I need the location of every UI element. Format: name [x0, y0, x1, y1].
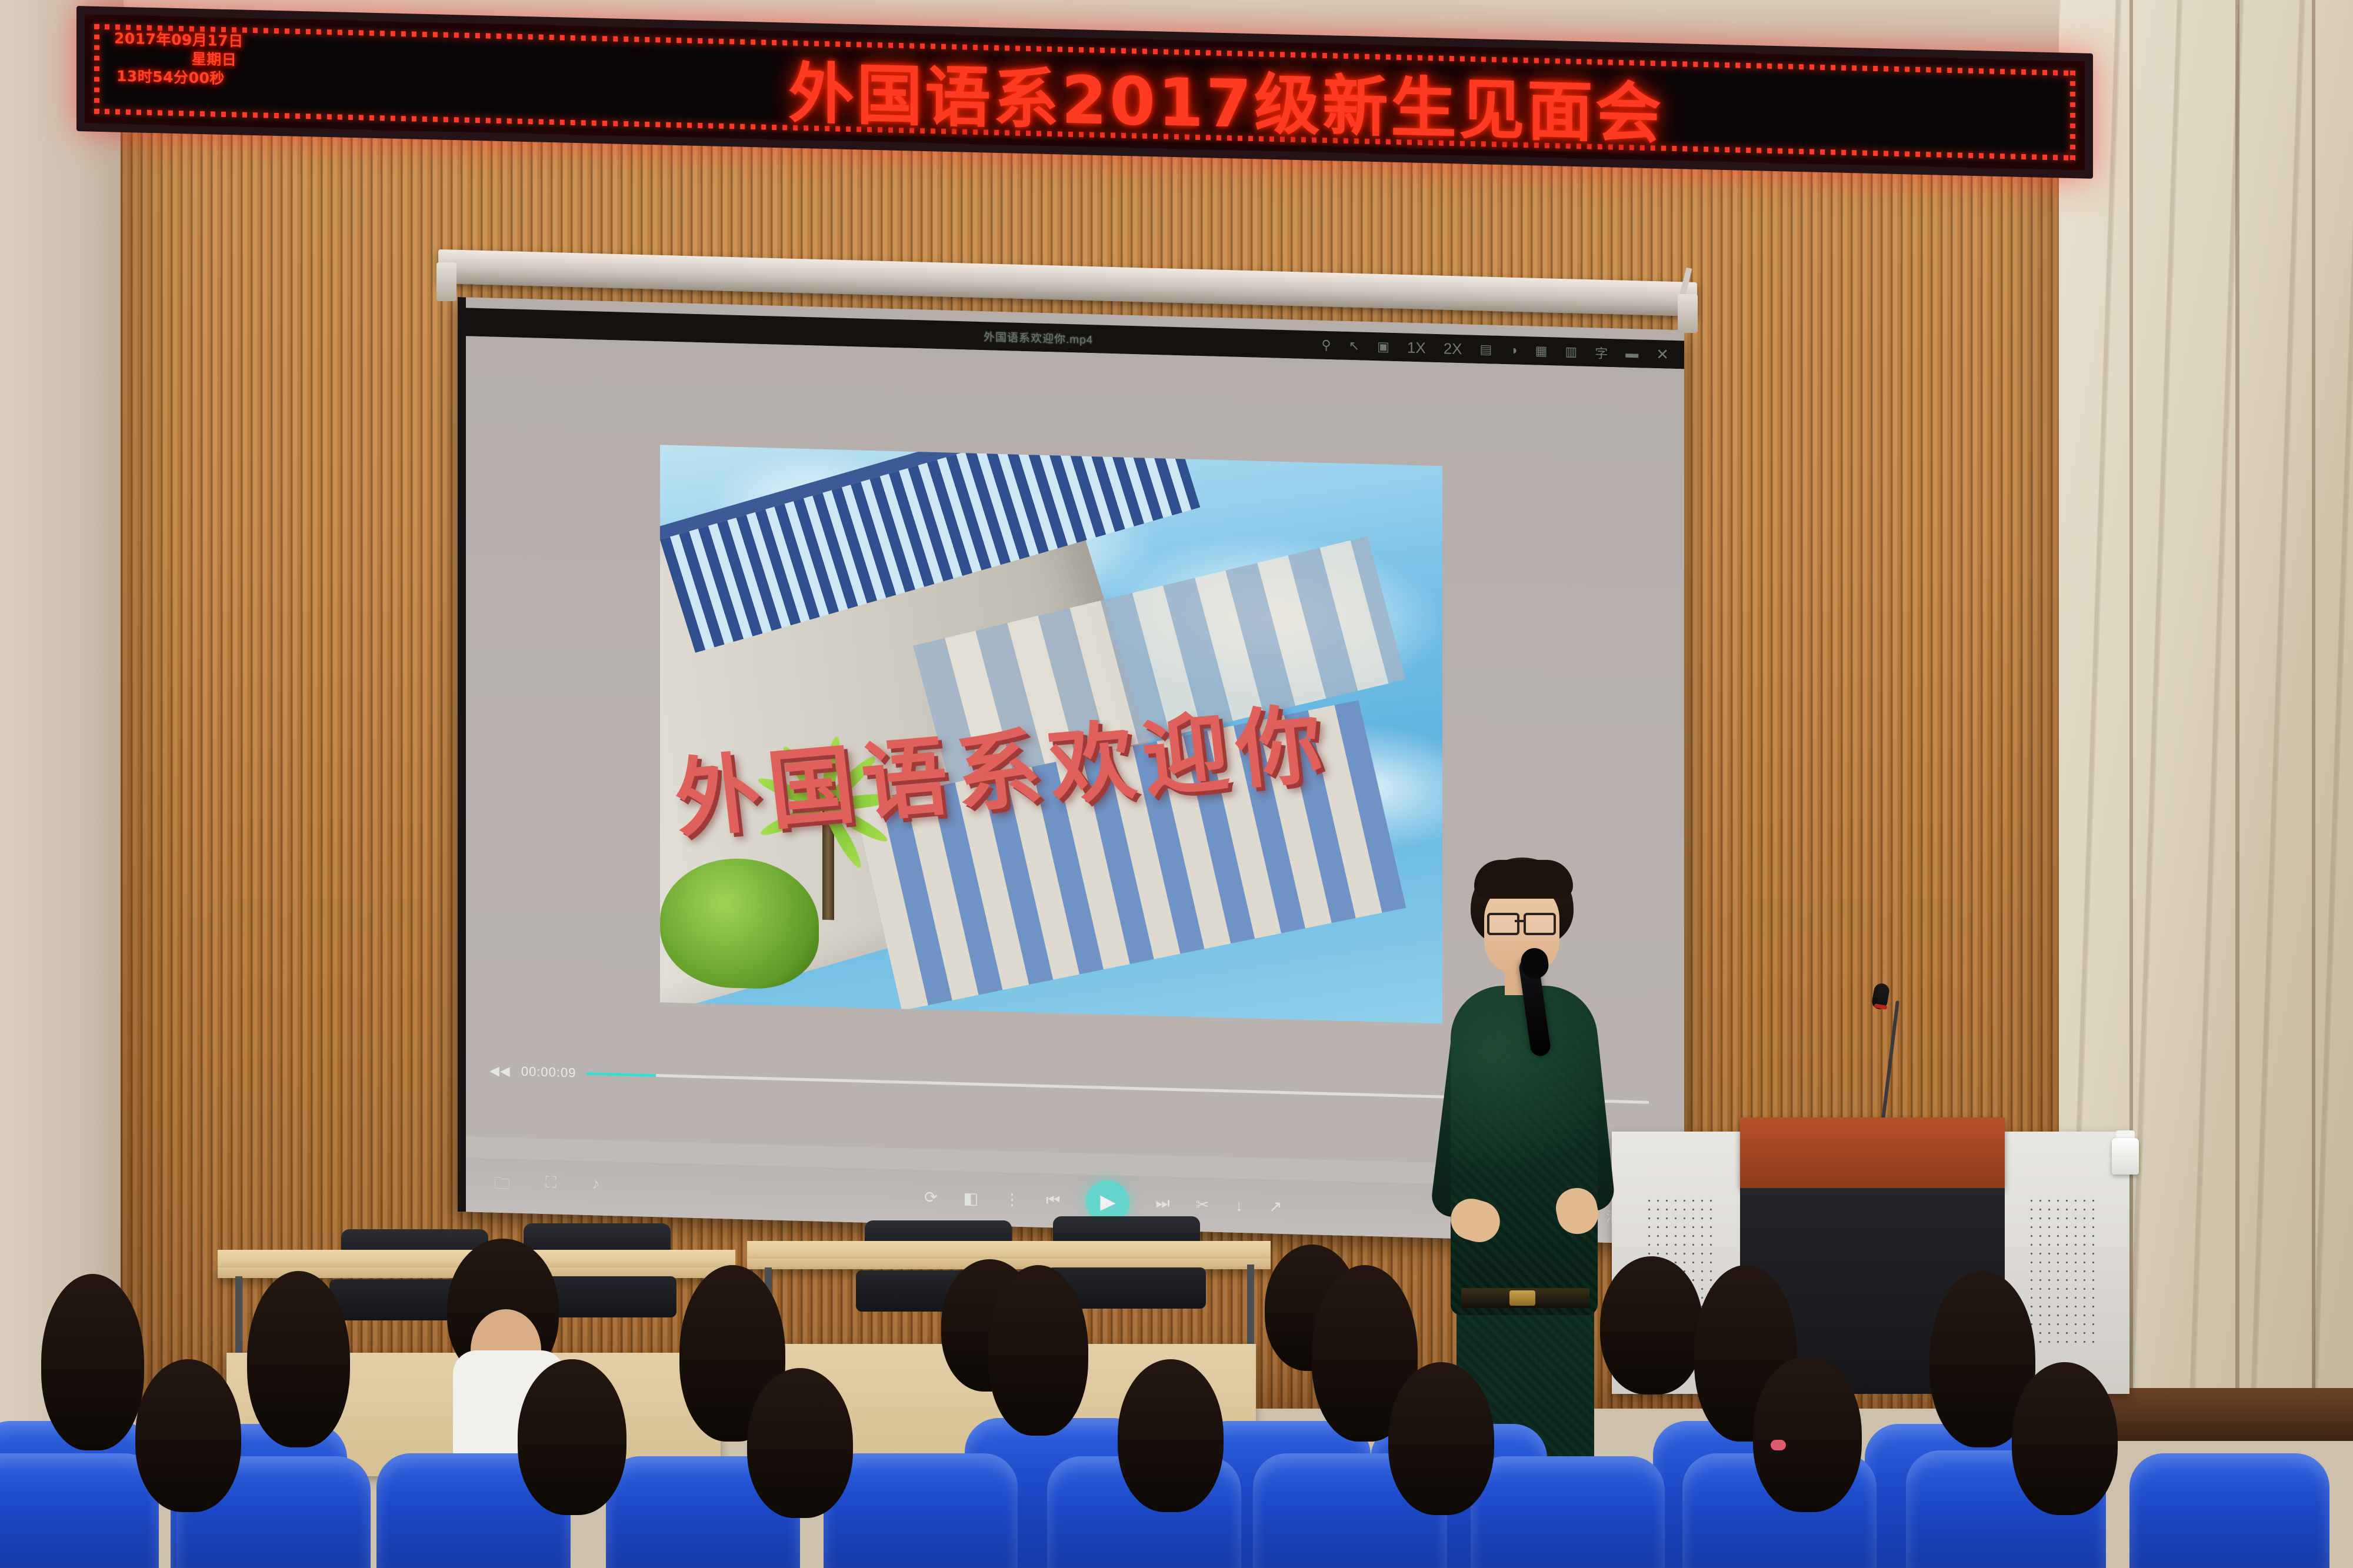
audience-head [1388, 1362, 1494, 1515]
edit-icon[interactable]: ▣ [1377, 339, 1389, 355]
audience-head [2012, 1362, 2118, 1515]
loop-icon[interactable]: ⟳ [924, 1188, 938, 1207]
audience-head [518, 1359, 626, 1515]
audience [0, 1239, 2353, 1568]
video-frame: 外国语系欢迎你 [660, 445, 1442, 1023]
glasses-bridge [1515, 920, 1524, 922]
audience-head [1753, 1356, 1862, 1512]
controls-left-group[interactable]: 🗀 ⛶ ♪ [466, 1171, 599, 1202]
audience-head [1118, 1359, 1224, 1512]
glasses-lens-right [1524, 913, 1556, 935]
player-filename: 外国语系欢迎你.mp4 [984, 328, 1093, 347]
seat[interactable] [2129, 1453, 2329, 1568]
cut-icon[interactable]: ✂ [1196, 1195, 1209, 1214]
left-wall-strip [0, 0, 124, 1423]
cursor-icon[interactable]: ↖ [1349, 338, 1359, 353]
audience-head [988, 1265, 1088, 1436]
screen-left-frame [458, 297, 466, 1212]
window-icon[interactable]: ▤ [1480, 342, 1492, 358]
seat[interactable] [0, 1453, 159, 1568]
auditorium-scene: 2017年09月17日 星期日 13时54分00秒 外国语系2017级新生见面会… [0, 0, 2353, 1568]
speed-1x-button[interactable]: 1X [1407, 338, 1426, 357]
audience-head [247, 1271, 350, 1447]
screen-roller-cap-right [1678, 294, 1698, 333]
grid-icon[interactable]: ▦ [1535, 343, 1548, 359]
seat[interactable] [824, 1453, 1018, 1568]
water-bottle [2112, 1138, 2139, 1175]
minimize-icon[interactable]: ▬ [1625, 346, 1638, 362]
rewind-icon[interactable]: ◀◀ [489, 1063, 511, 1079]
download-icon[interactable]: ↓ [1235, 1196, 1243, 1215]
player-timestamp: 00:00:09 [521, 1064, 576, 1081]
lock-icon[interactable]: ▥ [1565, 344, 1577, 360]
audience-head [1600, 1256, 1703, 1394]
seat[interactable] [1471, 1456, 1665, 1568]
podium-wood-top [1740, 1117, 2005, 1188]
record-icon[interactable]: ◑ [1509, 342, 1517, 358]
speed-2x-button[interactable]: 2X [1444, 339, 1462, 358]
crop-icon[interactable]: ⛶ [545, 1173, 556, 1201]
close-icon[interactable]: ✕ [1656, 345, 1669, 364]
note-icon[interactable]: ♪ [592, 1175, 600, 1202]
next-icon[interactable]: ⏭ [1155, 1194, 1169, 1213]
share-icon[interactable]: ↗ [1269, 1197, 1282, 1216]
led-event-title: 外国语系2017级新生见面会 [579, 35, 1873, 161]
audience-head [41, 1274, 144, 1450]
presenter-fringe [1474, 860, 1573, 899]
settings-icon[interactable]: ⋮ [1004, 1190, 1020, 1209]
screen-roller-cap-left [436, 262, 456, 301]
progress-fill [586, 1072, 655, 1076]
folder-icon[interactable]: 🗀 [494, 1172, 510, 1200]
pin-icon[interactable]: ⚲ [1322, 338, 1331, 353]
audience-head [747, 1368, 853, 1518]
text-icon[interactable]: 字 [1595, 343, 1608, 362]
previous-icon[interactable]: ⏮ [1046, 1191, 1060, 1210]
audience-head [135, 1359, 241, 1512]
player-toolbar[interactable]: ⚲ ↖ ▣ 1X 2X ▤ ◑ ▦ ▥ 字 ▬ ✕ [1322, 336, 1684, 365]
led-clock: 2017年09月17日 星期日 13时54分00秒 [114, 29, 308, 91]
volume-icon[interactable]: ◧ [964, 1189, 979, 1208]
glasses-lens-left [1487, 913, 1519, 935]
hair-tie [1771, 1440, 1786, 1450]
